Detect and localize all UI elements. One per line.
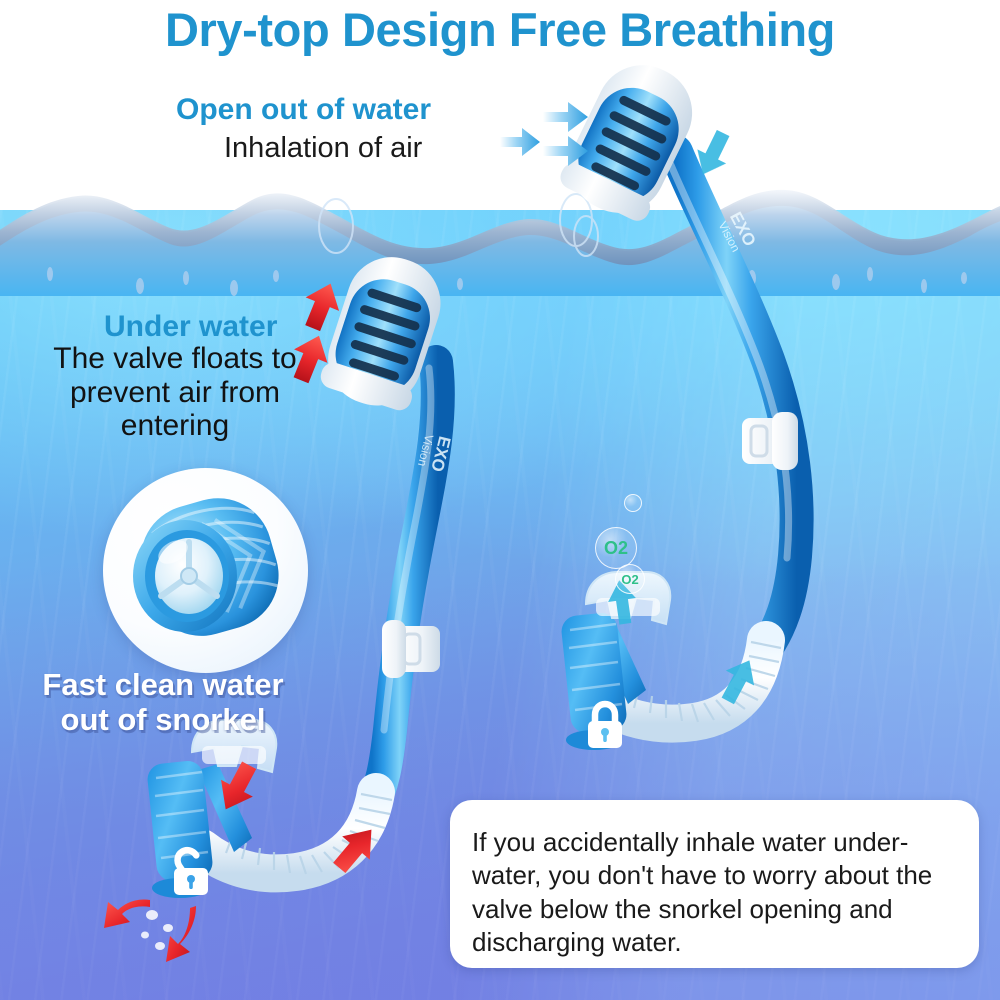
bubble-small	[624, 494, 642, 512]
lock-closed-icon	[582, 700, 628, 757]
bubble-o2-large: O2	[595, 527, 637, 569]
mask-clip-lower	[382, 620, 440, 678]
mask-clip-upper	[742, 412, 798, 470]
lock-open-icon	[166, 845, 216, 904]
callout-open-out-of-water-body: Inhalation of air	[224, 132, 422, 165]
callout-under-water-body: The valve floats toprevent air fromenter…	[10, 342, 340, 443]
purge-valve-closeup-inset	[103, 468, 308, 673]
info-note-card: If you accidentally inhale water under-w…	[450, 800, 979, 968]
callout-fast-clean-water: Fast clean waterout of snorkel	[8, 668, 318, 737]
bubble-o2-small: O2	[615, 564, 645, 594]
callout-under-water-title: Under water	[104, 310, 277, 344]
snorkel-above-water: EXO Vision	[555, 50, 798, 750]
callout-open-out-of-water-title: Open out of water	[176, 93, 431, 127]
infographic-canvas: EXO Vision	[0, 0, 1000, 1000]
info-note-text: If you accidentally inhale water under-w…	[450, 800, 979, 959]
page-title: Dry-top Design Free Breathing	[0, 2, 1000, 57]
water-droplets	[141, 910, 173, 950]
